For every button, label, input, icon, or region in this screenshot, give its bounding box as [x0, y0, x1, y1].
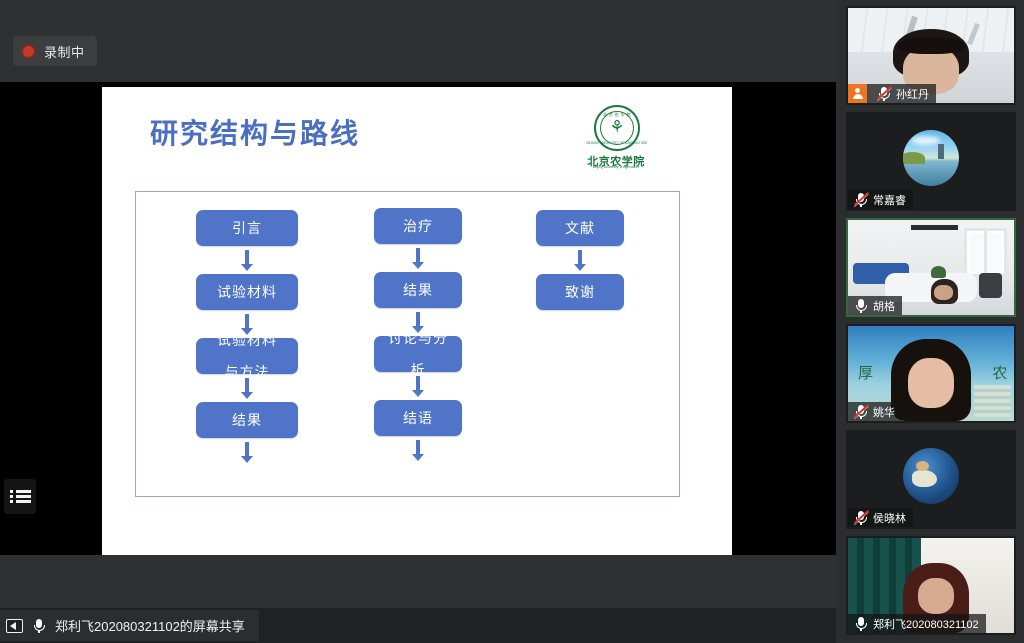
- participant-name-bar: 常嘉睿: [848, 190, 913, 209]
- participant-tile[interactable]: 厚德尚农姚华: [846, 324, 1016, 423]
- university-logo: 北 京 农 学 院 ⚘ BEIJING UNIVERSITY OF AGRICU…: [580, 105, 652, 171]
- flow-box: 结语: [374, 400, 462, 436]
- logo-subtitle: Beijing University of Agriculture: [580, 165, 652, 169]
- flow-box-label: 引言: [232, 220, 262, 236]
- participant-tile[interactable]: 常嘉睿: [846, 112, 1016, 211]
- microphone-icon: [853, 615, 869, 632]
- microphone-muted-icon: [853, 191, 869, 208]
- flow-box-label: 结果: [403, 282, 433, 298]
- flow-arrow-down-icon: [412, 248, 424, 269]
- flow-arrow-down-icon: [412, 440, 424, 461]
- flow-box: 结果: [196, 402, 298, 438]
- participant-name: 胡格: [873, 298, 895, 314]
- flow-box: 引言: [196, 210, 298, 246]
- participant-tile[interactable]: 郑利飞202080321102: [846, 536, 1016, 635]
- participant-name-bar: 孙红丹: [848, 84, 936, 103]
- flow-box-label: 致谢: [565, 284, 595, 300]
- participant-name: 常嘉睿: [873, 192, 906, 208]
- flow-box: 试验材料: [196, 274, 298, 310]
- flow-box: 讨论与分析: [374, 336, 462, 372]
- flow-box: 试验材料与方法: [196, 338, 298, 374]
- participant-rail[interactable]: 孙红丹常嘉睿胡格厚德尚农姚华侯晓林郑利飞202080321102: [836, 0, 1024, 643]
- screen-share-label: 郑利飞202080321102的屏幕共享: [55, 616, 245, 635]
- microphone-icon: [853, 297, 869, 314]
- flow-arrow-down-icon: [241, 378, 253, 399]
- avatar: [903, 130, 959, 186]
- flowchart-frame: 引言试验材料试验材料与方法结果治疗结果讨论与分析结语文献致谢: [135, 191, 680, 497]
- participant-tile[interactable]: 侯晓林: [846, 430, 1016, 529]
- microphone-muted-icon: [853, 403, 869, 420]
- flow-box: 文献: [536, 210, 624, 246]
- recording-indicator[interactable]: 录制中: [13, 36, 97, 66]
- bottom-bar: 郑利飞202080321102的屏幕共享: [0, 608, 836, 643]
- flow-box-label: 结果: [232, 412, 262, 428]
- participant-name: 姚华: [873, 404, 895, 420]
- shared-screen-stage: 录制中 研究结构与路线 北 京 农 学 院 ⚘ BEIJING UNIVERSI…: [0, 0, 836, 608]
- participant-name: 郑利飞202080321102: [873, 616, 979, 632]
- flow-box-label: 文献: [565, 220, 595, 236]
- flow-arrow-down-icon: [574, 250, 586, 271]
- logo-arc-bottom-text: BEIJING UNIVERSITY OF AGRICULTURE: [587, 141, 648, 145]
- microphone-muted-icon: [876, 85, 892, 102]
- host-badge-icon: [848, 84, 867, 103]
- participant-name-bar: 胡格: [848, 296, 902, 315]
- flow-arrow-down-icon: [412, 376, 424, 397]
- avatar: [903, 448, 959, 504]
- outline-list-icon[interactable]: [4, 479, 36, 514]
- flow-box: 致谢: [536, 274, 624, 310]
- flow-arrow-down-icon: [241, 442, 253, 463]
- flow-box-label: 结语: [403, 410, 433, 426]
- logo-glyph-icon: ⚘: [609, 119, 624, 136]
- meeting-window: 录制中 研究结构与路线 北 京 农 学 院 ⚘ BEIJING UNIVERSI…: [0, 0, 1024, 643]
- participant-name-bar: 姚华: [848, 402, 902, 421]
- presentation-slide: 研究结构与路线 北 京 农 学 院 ⚘ BEIJING UNIVERSITY O…: [102, 87, 732, 555]
- microphone-muted-icon: [853, 509, 869, 526]
- flow-box-label: 试验材料: [217, 284, 277, 300]
- screen-share-icon: [6, 619, 23, 633]
- participant-name: 孙红丹: [896, 86, 929, 102]
- flow-arrow-down-icon: [241, 250, 253, 271]
- participant-name: 侯晓林: [873, 510, 906, 526]
- participant-tile[interactable]: 胡格: [846, 218, 1016, 317]
- microphone-icon[interactable]: [31, 617, 47, 634]
- recording-label: 录制中: [44, 42, 85, 61]
- record-dot-icon: [21, 44, 36, 59]
- participant-name-bar: 侯晓林: [848, 508, 913, 527]
- slide-title: 研究结构与路线: [150, 112, 360, 152]
- flow-box-label: 讨论与分: [388, 330, 448, 346]
- participant-name-bar: 郑利飞202080321102: [848, 614, 986, 633]
- participant-tile[interactable]: 孙红丹: [846, 6, 1016, 105]
- flow-box: 结果: [374, 272, 462, 308]
- screen-share-status[interactable]: 郑利飞202080321102的屏幕共享: [0, 610, 259, 641]
- flow-box: 治疗: [374, 208, 462, 244]
- flow-box-label: 治疗: [403, 218, 433, 234]
- flow-box-label: 试验材料: [217, 332, 277, 348]
